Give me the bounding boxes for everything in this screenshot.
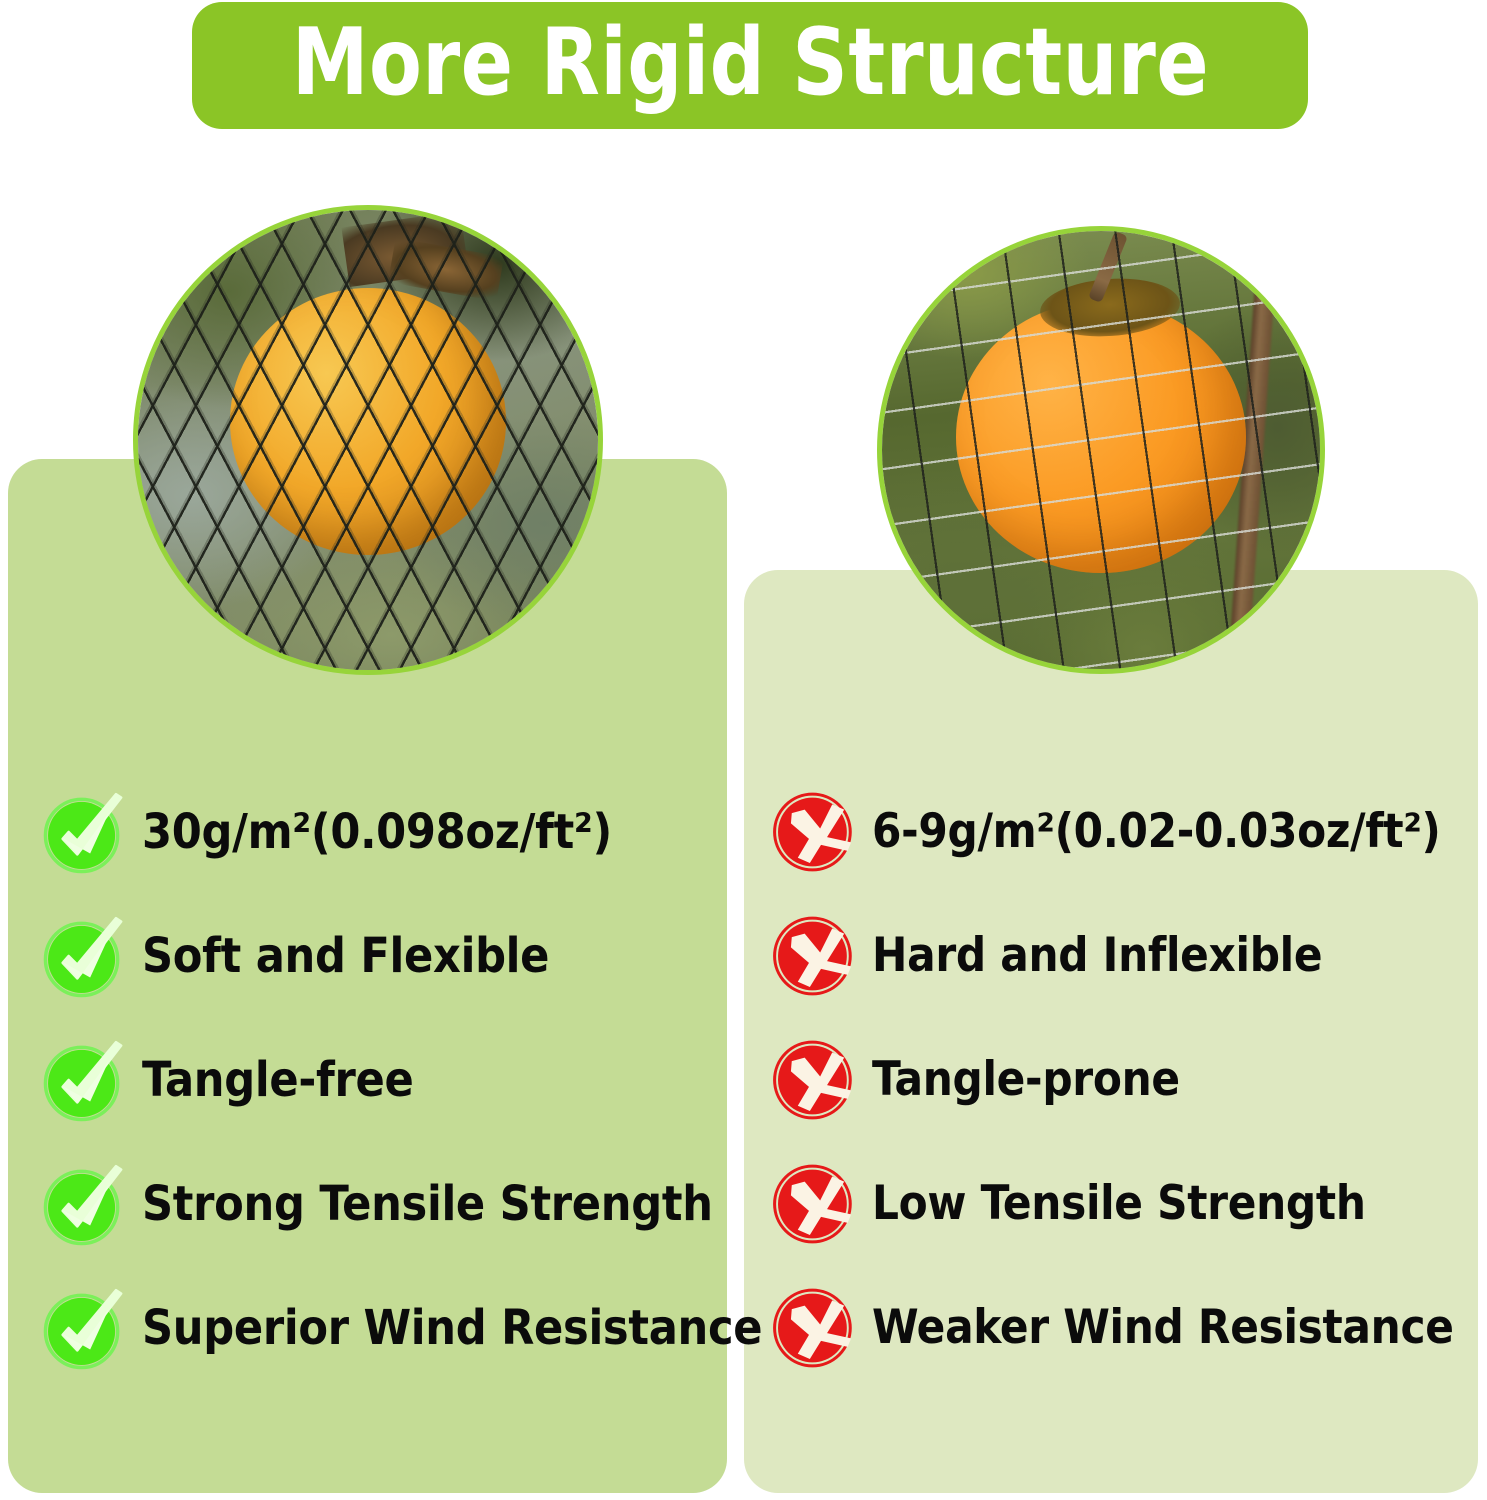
check-circle-icon: [42, 1161, 128, 1247]
feature-row: 30g/m²(0.098oz/ft²): [42, 795, 722, 869]
persimmon-under-soft-net-photo: [133, 205, 603, 675]
cross-circle-icon: [772, 1285, 858, 1371]
square-grid-net-overlay: [882, 231, 1320, 669]
cross-circle-icon: [772, 789, 858, 875]
other-product-feature-list: 6-9g/m²(0.02-0.03oz/ft²) Hard and Inflex…: [772, 795, 1472, 1365]
persimmon-under-rigid-net-photo: [877, 226, 1325, 674]
feature-label: Tangle-prone: [872, 1055, 1180, 1104]
feature-row: Weaker Wind Resistance: [772, 1291, 1472, 1365]
cross-circle-icon: [772, 913, 858, 999]
feature-label: Hard and Inflexible: [872, 931, 1322, 980]
check-circle-icon: [42, 789, 128, 875]
feature-label: Low Tensile Strength: [872, 1179, 1366, 1228]
feature-row: Strong Tensile Strength: [42, 1167, 722, 1241]
check-circle-icon: [42, 1037, 128, 1123]
cross-circle-icon: [772, 1161, 858, 1247]
cross-circle-icon: [772, 1037, 858, 1123]
page-title-banner: More Rigid Structure: [192, 2, 1308, 129]
feature-row: Tangle-free: [42, 1043, 722, 1117]
feature-row: Low Tensile Strength: [772, 1167, 1472, 1241]
our-product-feature-list: 30g/m²(0.098oz/ft²) Soft and Flexible Ta…: [42, 795, 722, 1365]
feature-row: Hard and Inflexible: [772, 919, 1472, 993]
page-title: More Rigid Structure: [291, 16, 1208, 115]
check-circle-icon: [42, 1285, 128, 1371]
feature-label: Soft and Flexible: [142, 931, 549, 981]
feature-row: 6-9g/m²(0.02-0.03oz/ft²): [772, 795, 1472, 869]
feature-label: Tangle-free: [142, 1055, 413, 1105]
feature-label: Strong Tensile Strength: [142, 1179, 713, 1229]
feature-row: Tangle-prone: [772, 1043, 1472, 1117]
feature-label: 30g/m²(0.098oz/ft²): [142, 807, 612, 857]
feature-label: Weaker Wind Resistance: [872, 1303, 1454, 1352]
feature-row: Superior Wind Resistance: [42, 1291, 722, 1365]
check-circle-icon: [42, 913, 128, 999]
feature-label: Superior Wind Resistance: [142, 1303, 762, 1353]
feature-row: Soft and Flexible: [42, 919, 722, 993]
net-knot-texture: [138, 210, 598, 670]
feature-label: 6-9g/m²(0.02-0.03oz/ft²): [872, 807, 1441, 856]
